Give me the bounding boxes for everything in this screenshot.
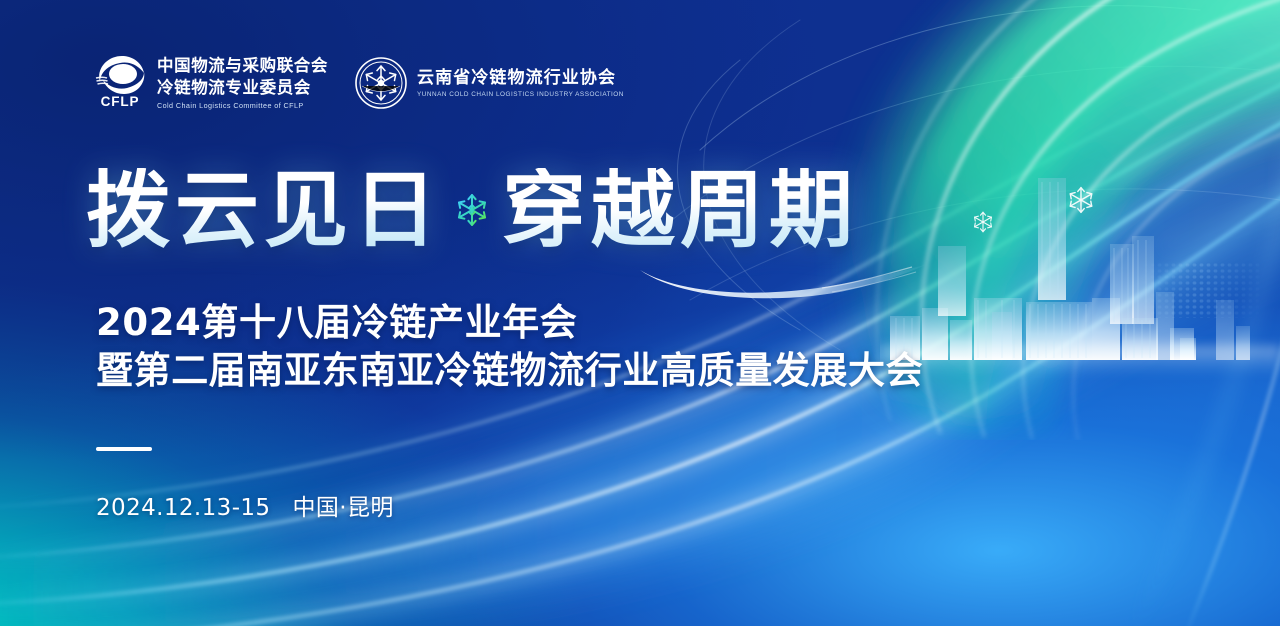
event-date: 2024.12.13-15 <box>96 495 270 521</box>
event-meta: 2024.12.13-15 中国·昆明 <box>96 488 394 522</box>
logo-cflp: CFLP 中国物流与采购联合会 冷链物流专业委员会 Cold Chain Log… <box>92 52 328 114</box>
subtitle-line1: 2024第十八届冷链产业年会 <box>96 299 923 347</box>
logo-yunnan-association: 云南省冷链物流行业协会 YUNNAN COLD CHAIN LOGISTICS … <box>354 56 624 110</box>
logo-bar: CFLP 中国物流与采购联合会 冷链物流专业委员会 Cold Chain Log… <box>92 52 624 114</box>
yunnan-name-en: YUNNAN COLD CHAIN LOGISTICS INDUSTRY ASS… <box>417 91 624 98</box>
headline-part1: 拨云见日 <box>86 168 442 252</box>
event-location: 中国·昆明 <box>292 488 393 522</box>
cflp-logo-text: 中国物流与采购联合会 冷链物流专业委员会 Cold Chain Logistic… <box>157 56 328 109</box>
snowflake-circle-emblem-icon <box>354 56 408 110</box>
cflp-name-line2: 冷链物流专业委员会 <box>157 78 328 98</box>
cflp-wordmark: CFLP <box>92 95 148 109</box>
headline: 拨云见日 <box>86 168 858 252</box>
headline-part2: 穿越周期 <box>502 168 858 252</box>
subtitle-block: 2024第十八届冷链产业年会 暨第二届南亚东南亚冷链物流行业高质量发展大会 <box>96 299 923 395</box>
cflp-swoosh-logo-icon: CFLP <box>92 52 148 114</box>
cflp-name-en: Cold Chain Logistics Committee of CFLP <box>157 101 328 110</box>
yunnan-name-cn: 云南省冷链物流行业协会 <box>417 68 624 88</box>
yunnan-logo-text: 云南省冷链物流行业协会 YUNNAN COLD CHAIN LOGISTICS … <box>417 68 624 99</box>
snowflake-icon <box>452 190 492 230</box>
conference-banner: CFLP 中国物流与采购联合会 冷链物流专业委员会 Cold Chain Log… <box>0 0 1280 626</box>
cflp-name-line1: 中国物流与采购联合会 <box>157 56 328 76</box>
brush-stroke-decoration <box>636 258 936 304</box>
divider-rule <box>96 447 152 451</box>
banner-content: CFLP 中国物流与采购联合会 冷链物流专业委员会 Cold Chain Log… <box>0 0 1280 626</box>
subtitle-line2: 暨第二届南亚东南亚冷链物流行业高质量发展大会 <box>96 347 923 395</box>
